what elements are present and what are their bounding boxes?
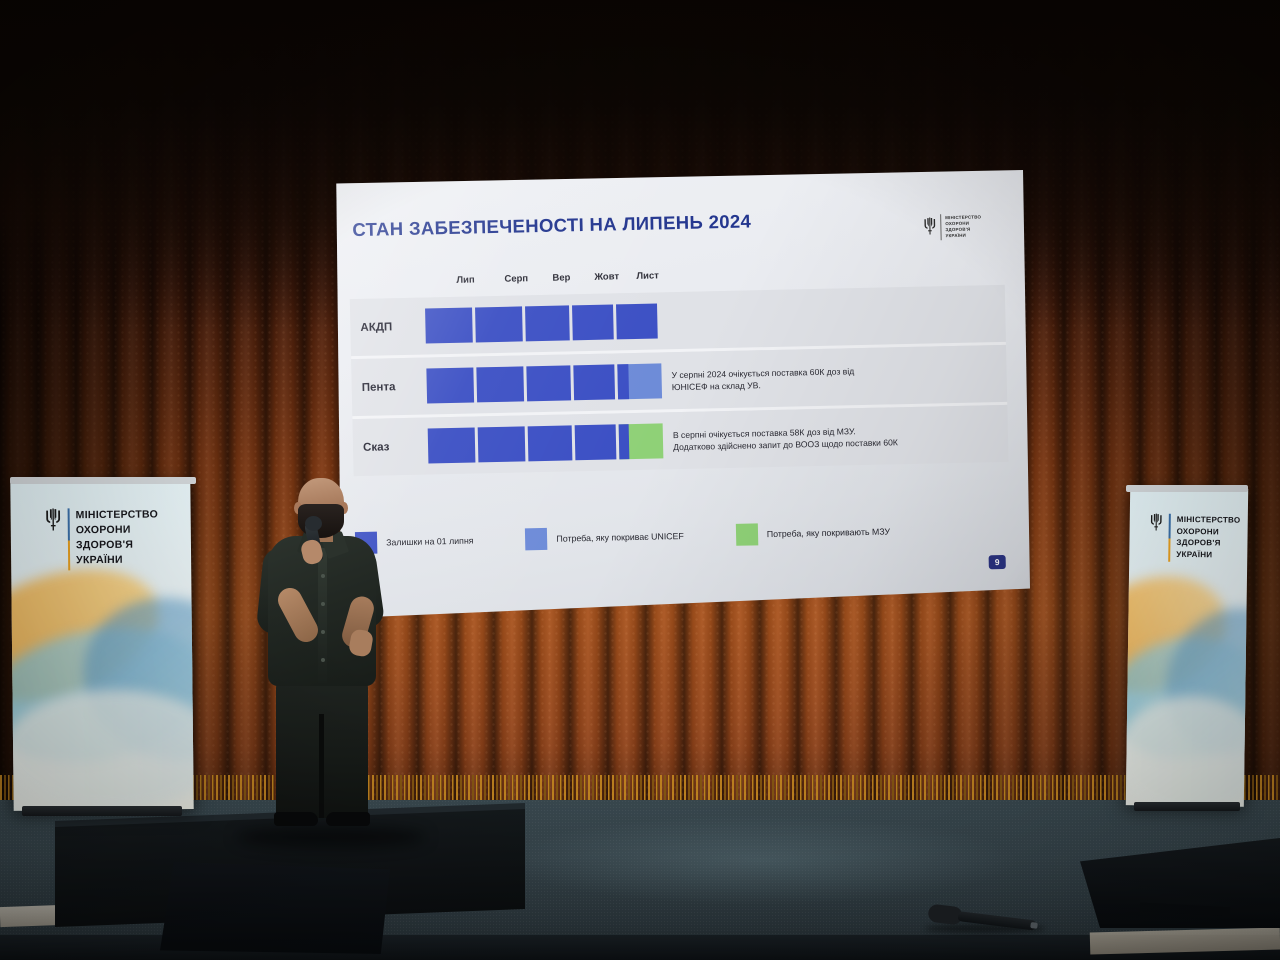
bar-segment xyxy=(426,368,474,404)
slide-number-badge: 9 xyxy=(989,555,1006,569)
floor-highlight xyxy=(500,815,1020,905)
month-label-4: Лист xyxy=(636,270,659,281)
rollup-banner-left: МІНІСТЕРСТВО ОХОРОНИ ЗДОРОВ'Я УКРАЇНИ xyxy=(10,479,193,811)
presenter-leg-split xyxy=(319,714,324,818)
page-title: СТАН ЗАБЕЗПЕЧЕНОСТІ НА ЛИПЕНЬ 2024 xyxy=(352,210,751,241)
ministry-logo: МІНІСТЕРСТВО ОХОРОНИ ЗДОРОВ'Я УКРАЇНИ xyxy=(923,213,982,240)
microphone-tip xyxy=(1030,922,1038,929)
photo-scene: СТАН ЗАБЕЗПЕЧЕНОСТІ НА ЛИПЕНЬ 2024 xyxy=(0,0,1280,960)
rollup-banner-right: МІНІСТЕРСТВО ОХОРОНИ ЗДОРОВ'Я УКРАЇНИ xyxy=(1126,487,1248,807)
shirt-button xyxy=(321,630,325,634)
bar-segment-partial xyxy=(617,363,662,399)
banner-top-rail-left xyxy=(10,477,196,484)
logo-line-4: УКРАЇНИ xyxy=(946,233,982,240)
bar-segment xyxy=(528,425,573,461)
presenter-shoe-right xyxy=(326,812,370,826)
trident-icon xyxy=(45,508,62,534)
banner-line-4: УКРАЇНИ xyxy=(76,552,159,568)
month-label-2: Вер xyxy=(552,272,570,283)
bar-segment xyxy=(526,365,571,401)
bar-segment xyxy=(572,304,614,340)
trident-icon xyxy=(923,217,936,237)
banner-top-rail-right xyxy=(1126,485,1248,492)
banner-line-4: УКРАЇНИ xyxy=(1176,548,1240,560)
banner-line-3: ЗДОРОВ'Я xyxy=(1176,537,1240,549)
row-label-skaz: Сказ xyxy=(353,440,428,454)
bar-segment xyxy=(425,308,473,344)
slide-content: СТАН ЗАБЕЗПЕЧЕНОСТІ НА ЛИПЕНЬ 2024 xyxy=(325,162,1035,627)
bar-segment xyxy=(573,364,615,400)
bar-segment xyxy=(616,303,658,339)
stage-monitor-wedge-left xyxy=(160,862,390,954)
bar-akdp xyxy=(425,303,661,343)
bar-skaz xyxy=(428,423,667,463)
presenter xyxy=(246,478,396,833)
row-label-akdp: АКДП xyxy=(350,320,425,334)
bar-segment xyxy=(525,305,570,341)
month-label-3: Жовт xyxy=(594,271,619,283)
banner-line-2: ОХОРОНИ xyxy=(76,522,159,538)
presenter-shoe-left xyxy=(274,812,318,826)
month-label-1: Серп xyxy=(504,273,528,285)
logo-text: МІНІСТЕРСТВО ОХОРОНИ ЗДОРОВ'Я УКРАЇНИ xyxy=(945,214,982,240)
presenter-shirt-placket xyxy=(318,548,327,683)
chart-rows: АКДП Пента xyxy=(350,285,1009,476)
bar-segment xyxy=(478,426,526,462)
legend-swatch xyxy=(525,528,547,550)
banner-base-right xyxy=(1134,802,1240,811)
banner-line-1: МІНІСТЕРСТВО xyxy=(1177,514,1241,526)
legend-item: Потреба, яку покриває UNICEF xyxy=(525,525,684,550)
banner-line-3: ЗДОРОВ'Я xyxy=(76,537,159,553)
banner-line-1: МІНІСТЕРСТВО xyxy=(76,507,159,523)
bar-segment xyxy=(575,424,617,460)
projection-screen: СТАН ЗАБЕЗПЕЧЕНОСТІ НА ЛИПЕНЬ 2024 xyxy=(330,170,1030,620)
chart: Лип Серп Вер Жовт Лист АКДП xyxy=(349,263,1008,476)
handheld-microphone-head xyxy=(305,516,322,531)
legend-label: Потреба, яку покриває UNICEF xyxy=(556,531,684,544)
row-label-penta: Пента xyxy=(352,380,427,394)
legend-label: Залишки на 01 липня xyxy=(386,536,474,548)
annotation-penta: У серпні 2024 очікується поставка 60К до… xyxy=(671,365,854,393)
logo-divider xyxy=(940,214,942,240)
screen-surface: СТАН ЗАБЕЗПЕЧЕНОСТІ НА ЛИПЕНЬ 2024 xyxy=(330,170,1030,620)
bar-penta xyxy=(426,363,665,403)
legend-swatch xyxy=(736,523,758,545)
bar-segment xyxy=(476,366,524,402)
month-label-0: Лип xyxy=(456,274,474,285)
shirt-button xyxy=(321,658,325,662)
chart-legend: Залишки на 01 липня Потреба, яку покрива… xyxy=(355,519,942,554)
shirt-button xyxy=(321,602,325,606)
bar-segment xyxy=(475,306,523,342)
bar-segment-partial xyxy=(619,423,664,459)
banner-base-left xyxy=(22,806,182,816)
legend-item: Потреба, яку покривають МЗУ xyxy=(736,520,891,545)
bar-segment xyxy=(428,427,476,463)
legend-label: Потреба, яку покривають МЗУ xyxy=(767,526,890,539)
trident-icon xyxy=(1150,513,1163,534)
shirt-button xyxy=(321,574,325,578)
annotation-skaz: В серпні очікується поставка 58К доз від… xyxy=(673,424,898,453)
banner-line-2: ОХОРОНИ xyxy=(1177,525,1241,537)
